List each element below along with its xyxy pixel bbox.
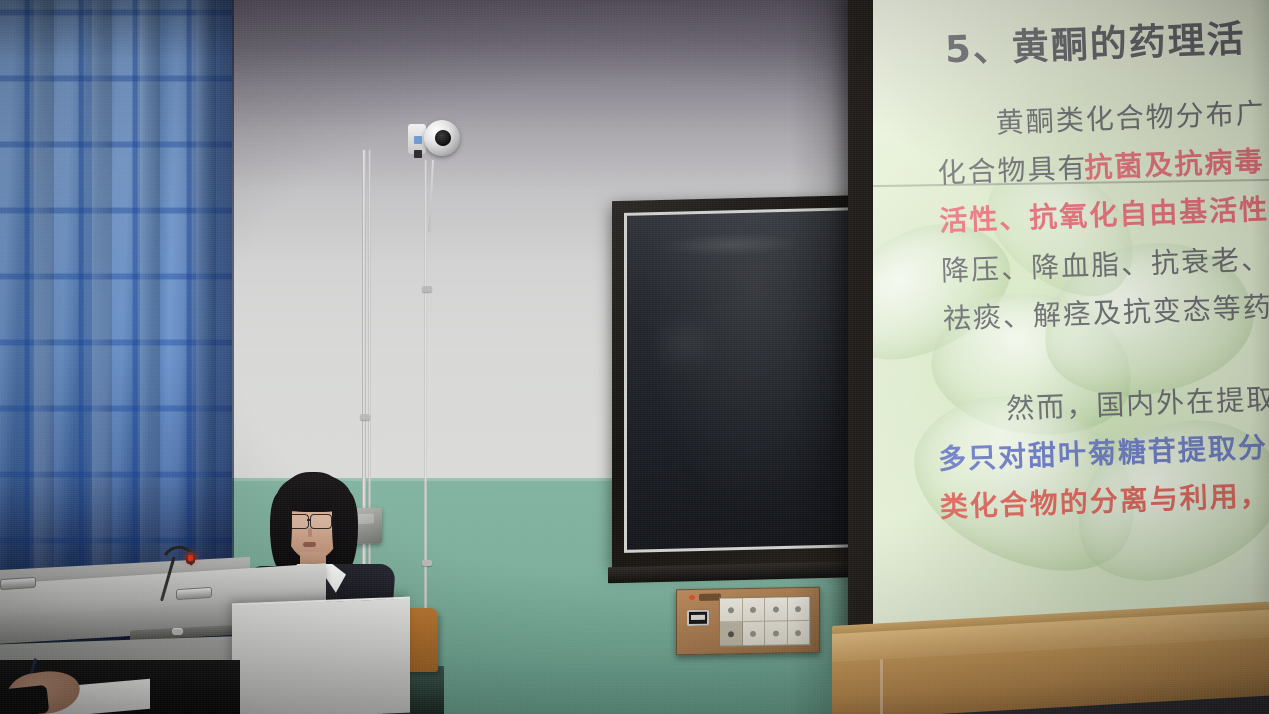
wall-conduit-cable <box>424 160 427 650</box>
chalk-smudge <box>659 232 803 259</box>
eyeglasses-right-lens <box>310 514 332 529</box>
power-socket[interactable] <box>687 610 709 626</box>
sleeve <box>0 685 49 714</box>
pipe-clip <box>360 414 370 420</box>
slide-line-5: 祛痰、解痉及抗变态等药 <box>942 286 1269 338</box>
camera-indicator <box>414 150 422 158</box>
desk-front-face <box>232 597 410 714</box>
mouth <box>303 542 316 547</box>
slide-line-3: 活性、抗氧化自由基活性 <box>939 188 1269 240</box>
slide-line-1: 黄酮类化合物分布广 <box>995 92 1266 142</box>
security-camera-icon <box>404 116 460 164</box>
panel-switch[interactable] <box>720 622 743 646</box>
camera-indicator <box>414 136 422 144</box>
projection-screen: 5、黄酮的药理活 黄酮类化合物分布广 化合物具有 抗菌及抗病毒 活性、抗氧化自由… <box>873 0 1269 650</box>
eyeglasses-bridge <box>307 519 311 521</box>
microphone-led-icon <box>188 555 193 561</box>
slide-line-6: 然而，国内外在提取 <box>1006 378 1269 428</box>
panel-switch[interactable] <box>765 597 788 621</box>
desk-drawer-handle[interactable] <box>176 587 212 600</box>
desk-drawer-handle[interactable] <box>0 577 36 590</box>
lectern-seam <box>880 659 883 714</box>
camera-lens-icon <box>435 130 451 146</box>
panel-switch[interactable] <box>720 598 743 622</box>
panel-led-icon <box>689 595 695 600</box>
pipe-clip <box>422 560 432 566</box>
slide-title: 5、黄酮的药理活 <box>944 8 1247 73</box>
slide-line-7: 多只对甜叶菊糖苷提取分 <box>937 426 1268 478</box>
curtain-shading-top <box>0 0 232 60</box>
screen-edge-shading <box>1251 0 1269 650</box>
panel-switch[interactable] <box>765 621 788 645</box>
panel-switch[interactable] <box>743 622 766 646</box>
chalk-smudge <box>650 314 720 376</box>
slide-line-8: 类化合物的分离与利用， <box>939 474 1269 526</box>
pipe-clip <box>422 286 432 292</box>
classroom-photo: 5、黄酮的药理活 黄酮类化合物分布广 化合物具有 抗菌及抗病毒 活性、抗氧化自由… <box>0 0 1269 714</box>
projection-screen-frame: 5、黄酮的药理活 黄酮类化合物分布广 化合物具有 抗菌及抗病毒 活性、抗氧化自由… <box>848 0 1269 666</box>
window-curtain <box>0 0 232 640</box>
desk-knob[interactable] <box>172 628 183 635</box>
nose <box>308 528 312 537</box>
slide-line-4: 降压、降血脂、抗衰老、 <box>940 238 1269 290</box>
panel-slot <box>699 593 721 600</box>
panel-switch[interactable] <box>743 598 766 622</box>
slide-text-block: 5、黄酮的药理活 黄酮类化合物分布广 化合物具有 抗菌及抗病毒 活性、抗氧化自由… <box>873 0 1269 650</box>
